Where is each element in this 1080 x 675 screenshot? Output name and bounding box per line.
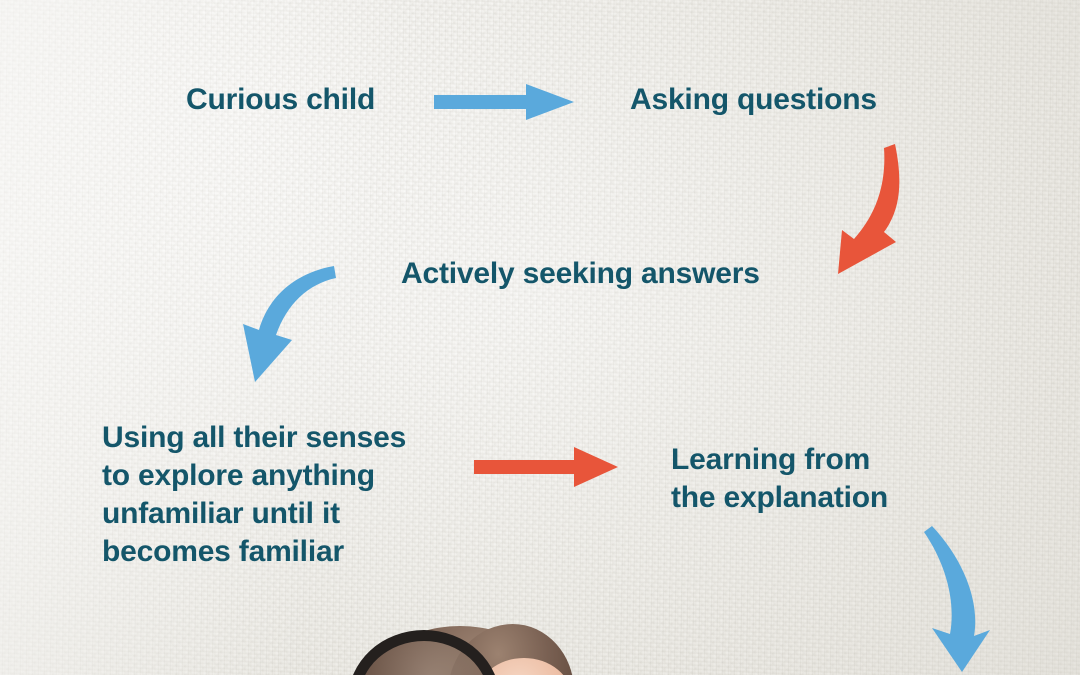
child-with-magnifier-photo: [330, 618, 590, 675]
infographic-canvas: Curious child Asking questions Actively …: [0, 0, 1080, 675]
arrow-curve-down-left-orange-icon: [818, 138, 928, 283]
arrow-right-orange-icon: [470, 444, 622, 490]
step-label-learning-from-explanation: Learning from the explanation: [671, 441, 888, 517]
flow-diagram: Curious child Asking questions Actively …: [0, 0, 1080, 675]
step-label-actively-seeking-answers: Actively seeking answers: [401, 256, 760, 291]
step-label-asking-questions: Asking questions: [630, 82, 877, 117]
step-label-using-senses: Using all their senses to explore anythi…: [102, 419, 406, 571]
arrow-right-blue-icon: [428, 82, 578, 122]
arrow-curve-down-left-blue-icon: [222, 258, 347, 388]
step-label-curious-child: Curious child: [186, 82, 375, 117]
arrow-curve-down-blue-icon: [918, 520, 1028, 675]
